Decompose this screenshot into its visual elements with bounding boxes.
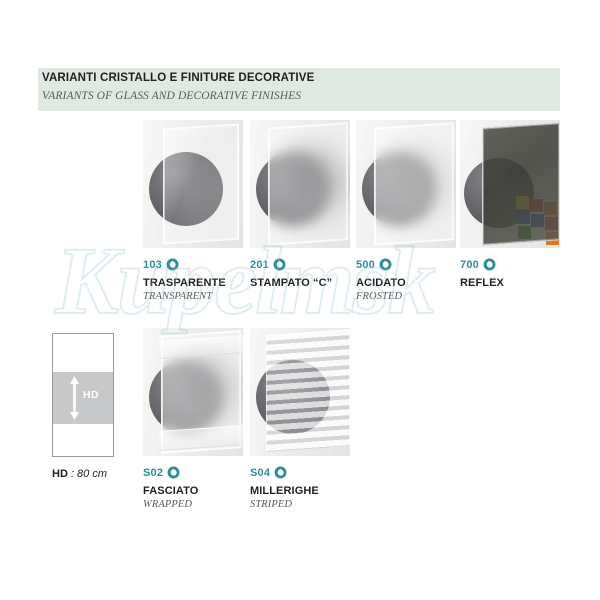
- sample-card-103[interactable]: 103 TRASPARENTE TRANSPARENT: [143, 120, 243, 302]
- hd-caption-bold: HD: [52, 468, 68, 480]
- glass-pane-striped: [266, 329, 350, 453]
- sample-image-wrapped: [143, 328, 243, 456]
- code-row: S02: [143, 465, 243, 480]
- sample-name-en: TRANSPARENT: [143, 291, 243, 302]
- code-row: S04: [250, 465, 350, 480]
- hd-inner-label: HD: [83, 389, 99, 401]
- droplet-icon: [273, 258, 286, 271]
- sample-code: 700: [460, 259, 479, 271]
- hd-caption-value: : 80 cm: [68, 468, 107, 480]
- sample-card-700[interactable]: 700 REFLEX: [460, 120, 560, 291]
- code-row: 700: [460, 257, 560, 272]
- hd-double-arrow-icon: [69, 376, 80, 420]
- sample-code: 201: [250, 259, 269, 271]
- sample-name-en: WRAPPED: [143, 499, 243, 510]
- droplet-icon: [166, 258, 179, 271]
- page-title: VARIANTI CRISTALLO E FINITURE DECORATIVE: [42, 72, 314, 84]
- droplet-icon: [167, 466, 180, 479]
- sample-name-it: FASCIATO: [143, 485, 243, 497]
- sample-code: S02: [143, 467, 163, 479]
- glass-pane-frosted: [374, 122, 454, 246]
- sample-image-frosted: [356, 120, 456, 248]
- droplet-icon: [379, 258, 392, 271]
- droplet-icon: [483, 258, 496, 271]
- sample-name-it: REFLEX: [460, 277, 560, 289]
- sample-code: 103: [143, 259, 162, 271]
- sample-name-it: TRASPARENTE: [143, 277, 243, 289]
- sample-name-en: FROSTED: [356, 291, 456, 302]
- sample-name-it: STAMPATO “C”: [250, 277, 350, 289]
- sample-code: 500: [356, 259, 375, 271]
- hd-diagram: HD: [52, 333, 114, 457]
- sample-name-it: MILLERIGHE: [250, 485, 350, 497]
- sample-card-500[interactable]: 500 ACIDATO FROSTED: [356, 120, 456, 302]
- glass-pane-reflex: [482, 122, 560, 245]
- sample-image-striped: [250, 328, 350, 456]
- hd-caption: HD : 80 cm: [52, 468, 107, 480]
- code-row: 103: [143, 257, 243, 272]
- sample-card-201[interactable]: 201 STAMPATO “C”: [250, 120, 350, 291]
- code-row: 500: [356, 257, 456, 272]
- sample-image-transparent: [143, 120, 243, 248]
- sample-name-en: STRIPED: [250, 499, 350, 510]
- sample-name-it: ACIDATO: [356, 277, 456, 289]
- glass-pane-clear: [163, 124, 239, 245]
- sample-image-reflex: [460, 120, 560, 248]
- sample-image-stampato-c: [250, 120, 350, 248]
- sample-card-s02[interactable]: S02 FASCIATO WRAPPED: [143, 328, 243, 510]
- page-subtitle: VARIANTS OF GLASS AND DECORATIVE FINISHE…: [42, 90, 301, 102]
- droplet-icon: [274, 466, 287, 479]
- code-row: 201: [250, 257, 350, 272]
- glass-pane-textured: [268, 122, 348, 246]
- sample-code: S04: [250, 467, 270, 479]
- sample-card-s04[interactable]: S04 MILLERIGHE STRIPED: [250, 328, 350, 510]
